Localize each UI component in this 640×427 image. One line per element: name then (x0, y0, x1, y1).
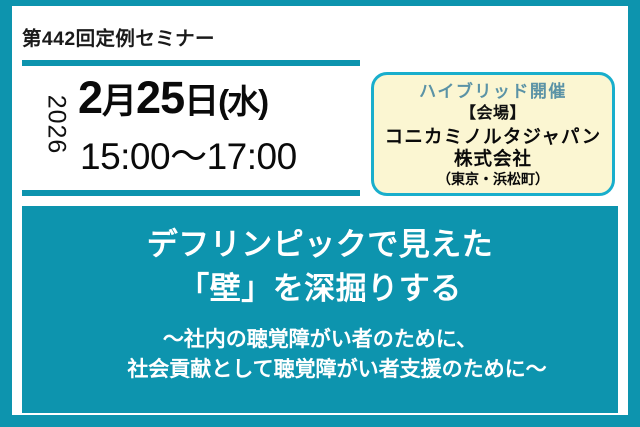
frame-border-top (0, 0, 640, 6)
event-year: 2026 (42, 82, 71, 168)
main-banner: デフリンピックで見えた 「壁」を深掘りする 〜社内の聴覚障がい者のために、 社会… (22, 206, 618, 413)
venue-heading-label: 【会場】 (374, 104, 612, 125)
frame-border-left (0, 0, 12, 427)
venue-organization-line2: 株式会社 (374, 148, 612, 170)
venue-box: ハイブリッド開催 【会場】 コニカミノルタジャパン 株式会社 （東京・浜松町） (371, 72, 615, 196)
event-month-number: 2 (78, 72, 102, 123)
seminar-subtitle: 〜社内の聴覚障がい者のために、 社会貢献として聴覚障がい者支援のために〜 (22, 325, 618, 386)
event-date: 2月25日(水) (78, 72, 267, 124)
seminar-number-title: 第442回定例セミナー (22, 22, 215, 51)
divider-rule-bottom (22, 190, 360, 196)
venue-format-label: ハイブリッド開催 (374, 81, 612, 104)
seminar-subtitle-line2: 社会貢献として聴覚障がい者支援のために〜 (22, 355, 618, 385)
event-month-kanji: 月 (102, 82, 136, 121)
date-block: 2026 2月25日(水) 15:00〜17:00 (22, 68, 362, 186)
seminar-title: デフリンピックで見えた 「壁」を深掘りする (22, 223, 618, 311)
seminar-title-line1: デフリンピックで見えた (22, 223, 618, 267)
event-day-kanji: 日 (184, 82, 218, 121)
venue-location: （東京・浜松町） (374, 170, 612, 188)
event-day-number: 25 (136, 72, 184, 123)
seminar-title-line2: 「壁」を深掘りする (22, 267, 618, 311)
event-day-of-week: (水) (218, 83, 267, 120)
frame-border-right (628, 0, 640, 427)
frame-border-bottom (0, 415, 640, 427)
venue-organization-line1: コニカミノルタジャパン (374, 125, 612, 148)
event-time: 15:00〜17:00 (80, 126, 297, 180)
seminar-poster: 第442回定例セミナー 2026 2月25日(水) 15:00〜17:00 ハイ… (0, 0, 640, 427)
seminar-subtitle-line1: 〜社内の聴覚障がい者のために、 (22, 325, 618, 355)
divider-rule-top (22, 60, 360, 66)
